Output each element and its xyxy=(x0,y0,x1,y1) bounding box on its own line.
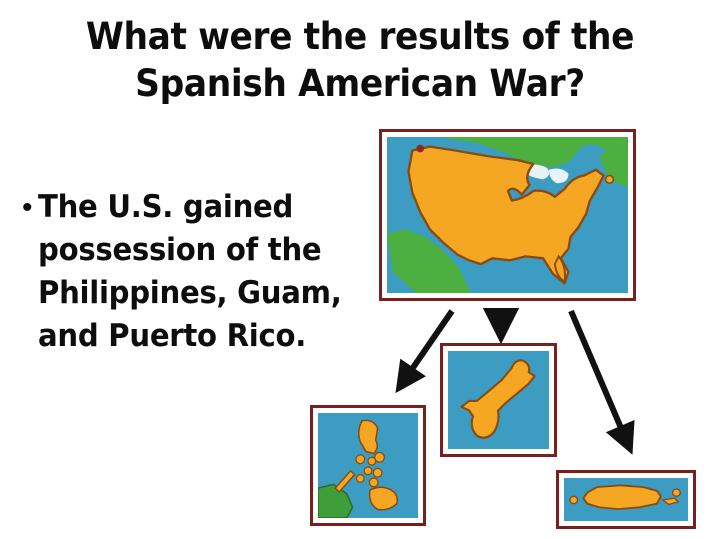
united-states-map-figure xyxy=(379,129,636,301)
philippines-map-graphic xyxy=(318,413,418,518)
arrow-to-puerto-rico xyxy=(571,311,630,449)
philippines-map-figure xyxy=(310,405,426,526)
bullet-item-text: The U.S. gained possession of the Philip… xyxy=(38,186,348,358)
philippines-map-canvas xyxy=(318,413,418,518)
guam-map-graphic xyxy=(448,351,549,449)
united-states-map-canvas xyxy=(387,137,628,293)
guam-map-figure xyxy=(440,343,557,457)
bullet-marker-icon: • xyxy=(22,186,33,229)
united-states-map-graphic xyxy=(387,137,628,293)
puerto-rico-map-figure xyxy=(556,470,696,529)
slide-canvas: What were the results of the Spanish Ame… xyxy=(0,0,720,539)
puerto-rico-map-graphic xyxy=(564,478,688,521)
puerto-rico-map-canvas xyxy=(564,478,688,521)
guam-map-canvas xyxy=(448,351,549,449)
page-title: What were the results of the Spanish Ame… xyxy=(25,14,695,108)
bullet-list: • The U.S. gained possession of the Phil… xyxy=(22,186,367,358)
